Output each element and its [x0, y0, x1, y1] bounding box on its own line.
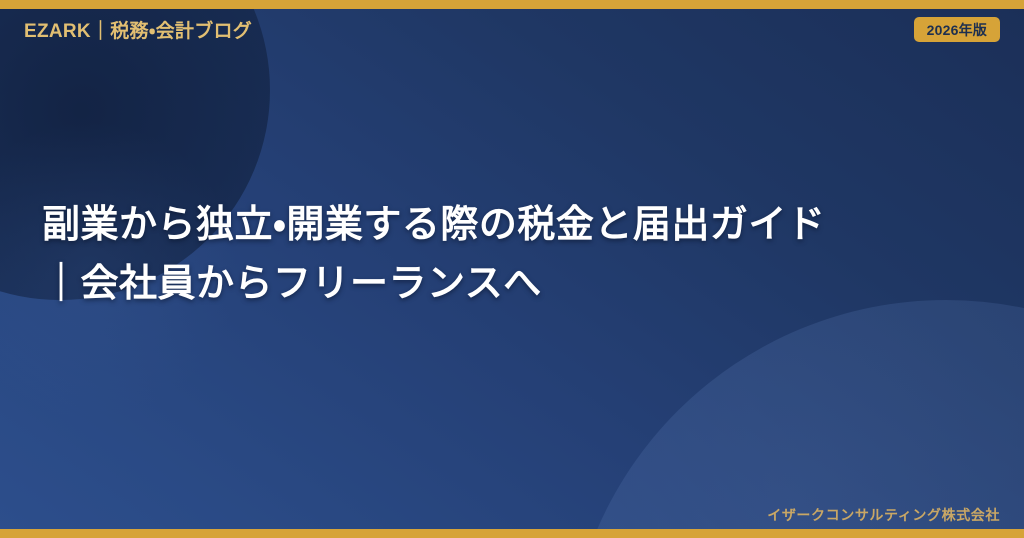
page-title-line-1: 副業から独立・開業する際の税金と届出ガイド [42, 196, 992, 255]
year-badge: 2026年版 [914, 17, 1000, 42]
decorative-circle-bottom-right [566, 300, 1024, 538]
top-gold-rule [0, 0, 1024, 9]
brand-label: EZARK｜税務・会計ブログ [24, 16, 252, 43]
page-title: 副業から独立・開業する際の税金と届出ガイド ｜会社員からフリーランスへ [42, 196, 992, 314]
bottom-gold-rule [0, 529, 1024, 538]
company-name-label: イザークコンサルティング株式会社 [767, 505, 1000, 525]
page-title-line-2: ｜会社員からフリーランスへ [42, 255, 992, 314]
blog-thumbnail-slide: EZARK｜税務・会計ブログ 2026年版 副業から独立・開業する際の税金と届出… [0, 0, 1024, 538]
